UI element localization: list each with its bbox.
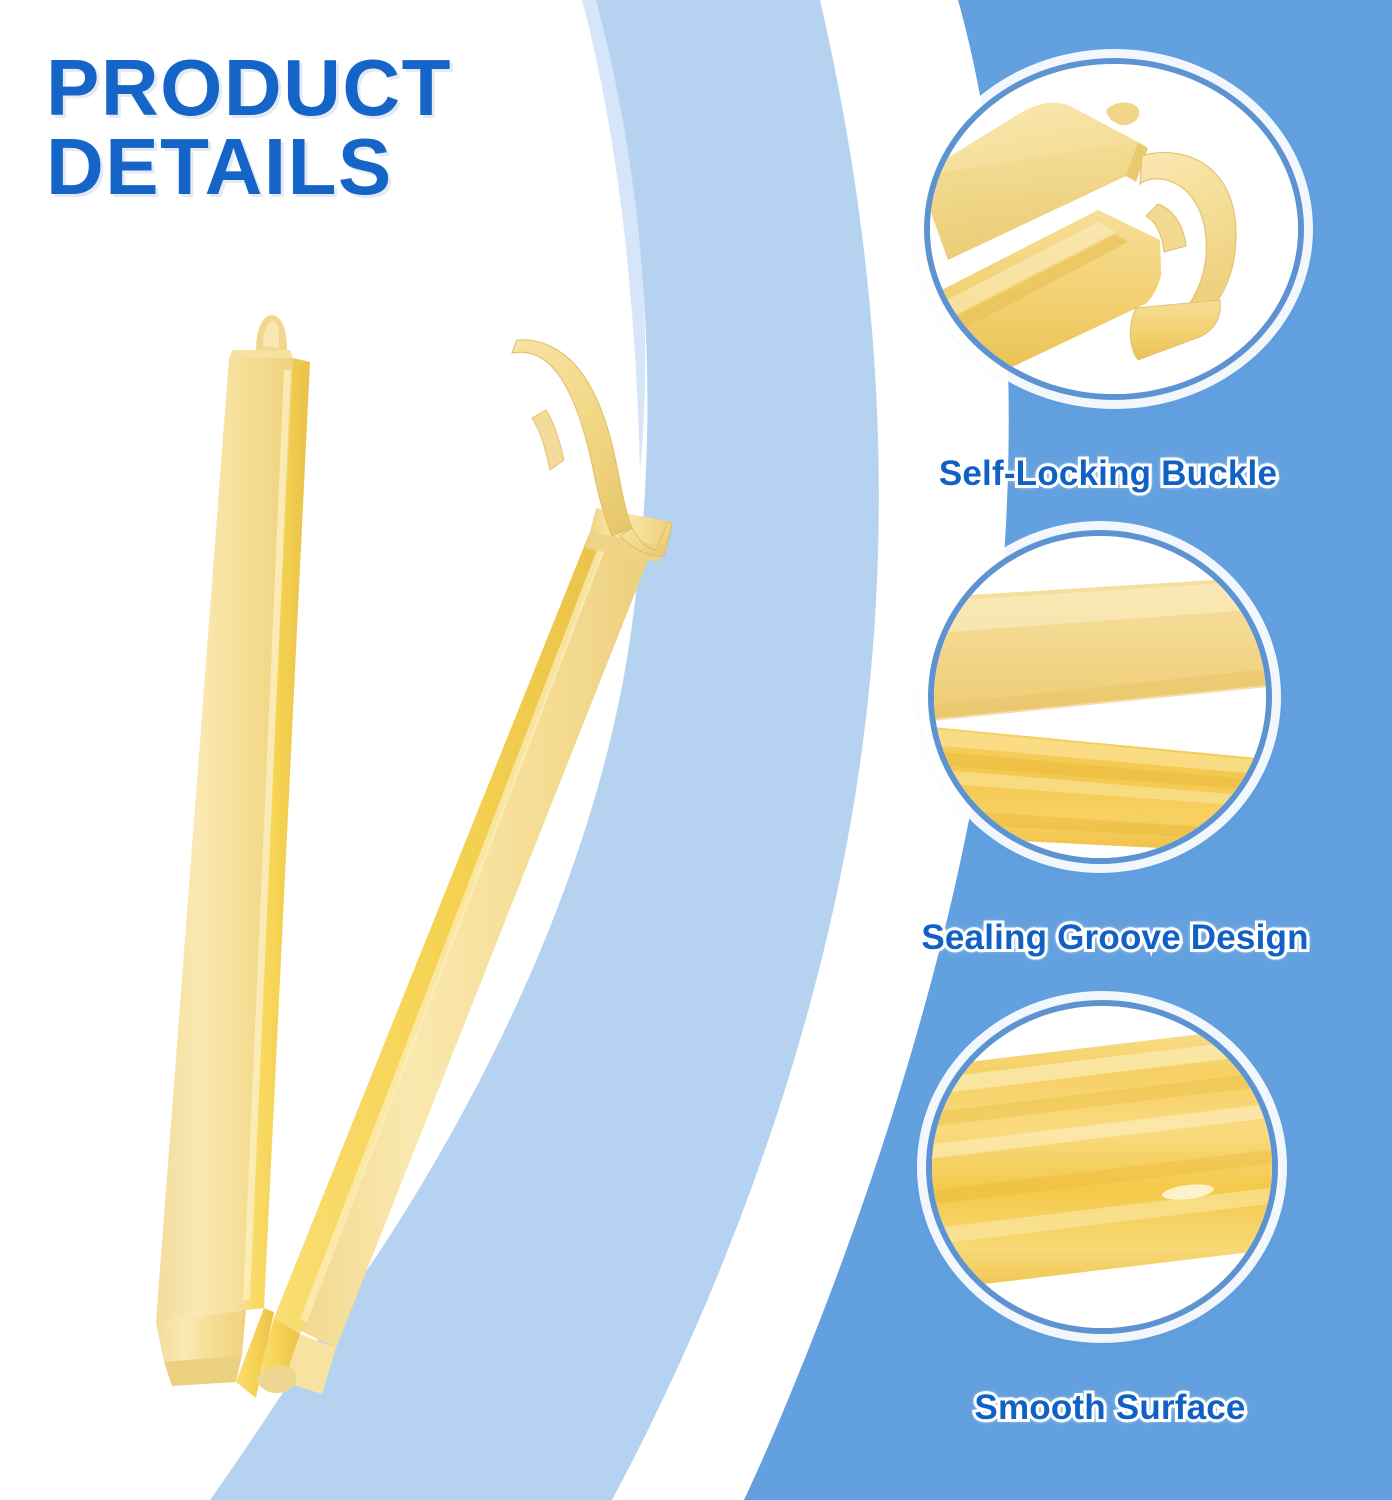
feature-self-locking-buckle: Self-Locking Buckle: [908, 58, 1308, 59]
feature-smooth-surface: Smooth Surface: [900, 1000, 1320, 1001]
page-title-line-1: PRODUCT: [46, 48, 606, 127]
product-details-page: PRODUCT DETAILS: [0, 0, 1392, 1500]
page-title-line-2: DETAILS: [46, 127, 606, 206]
hero-product-image: [60, 300, 860, 1480]
feature-image-self-locking-buckle: [924, 58, 1304, 400]
feature-sealing-groove-design: Sealing Groove Design: [900, 530, 1330, 531]
hero-strip-left: [156, 315, 310, 1398]
feature-caption-self-locking-buckle: Self-Locking Buckle: [908, 454, 1308, 494]
feature-caption-smooth-surface: Smooth Surface: [900, 1388, 1320, 1428]
feature-image-smooth-surface: [926, 1000, 1278, 1334]
feature-image-sealing-groove-design: [928, 530, 1272, 864]
page-title: PRODUCT DETAILS: [46, 48, 606, 206]
feature-caption-sealing-groove-design: Sealing Groove Design: [874, 918, 1356, 958]
hero-strip-right: [256, 508, 672, 1394]
